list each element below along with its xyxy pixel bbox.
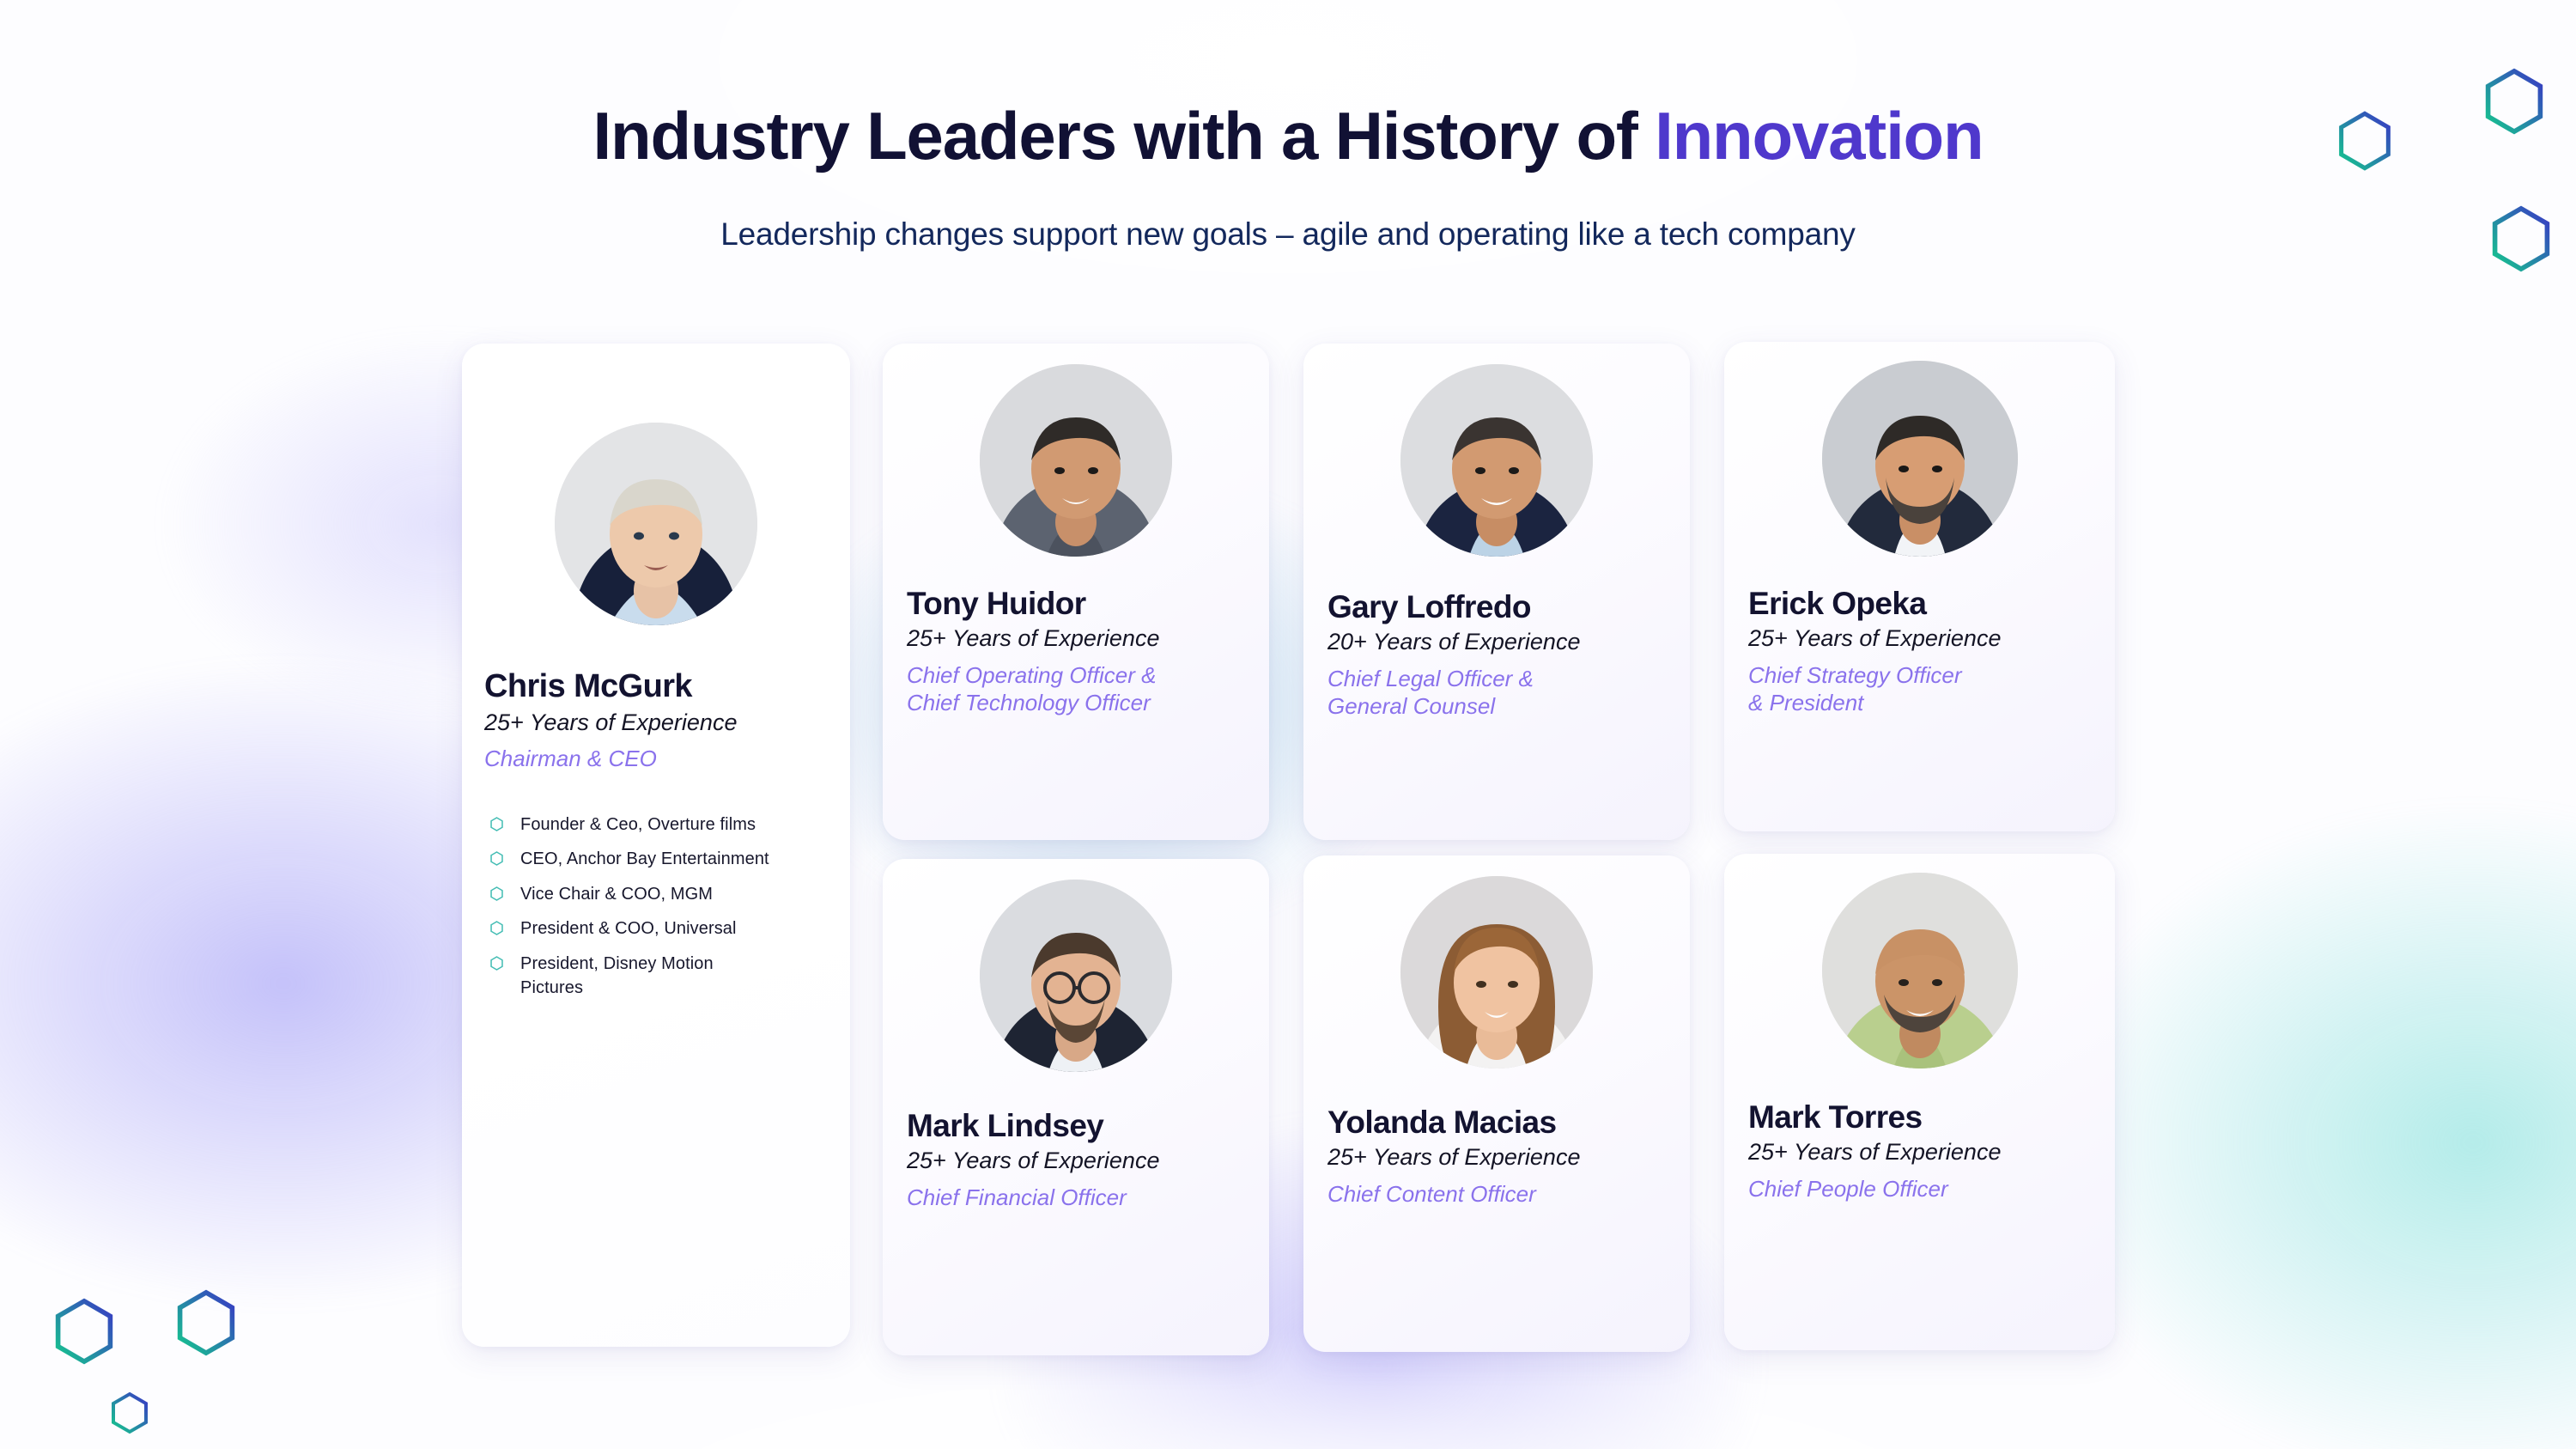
person-role: Chief Financial Officer [907, 1184, 1245, 1212]
avatar [1400, 364, 1593, 557]
list-item-label: President & COO, Universal [520, 916, 737, 941]
person-role: Chief People Officer [1748, 1176, 2091, 1203]
list-item: Founder & Ceo, Overture films [489, 813, 828, 837]
person-experience: 25+ Years of Experience [1748, 624, 2091, 654]
avatar-wrap [1724, 873, 2115, 1068]
erick-opeka-headshot-icon [1822, 361, 2018, 557]
avatar [555, 423, 757, 625]
list-item-label: Vice Chair & COO, MGM [520, 882, 713, 906]
person-name: Mark Lindsey [907, 1108, 1245, 1143]
gary-loffredo-headshot-icon [1400, 364, 1593, 557]
list-item: President, Disney Motion Pictures [489, 952, 828, 1001]
avatar-wrap [1303, 364, 1690, 557]
tony-huidor-headshot-icon [980, 364, 1172, 557]
list-item: Vice Chair & COO, MGM [489, 882, 828, 906]
hexagon-bullet-icon [489, 952, 520, 975]
person-role: Chairman & CEO [484, 746, 828, 773]
person-name: Chris McGurk [484, 668, 828, 705]
person-experience: 25+ Years of Experience [1327, 1143, 1666, 1172]
person-name: Gary Loffredo [1327, 589, 1666, 624]
leader-card-erick-opeka[interactable]: Erick Opeka 25+ Years of Experience Chie… [1724, 342, 2115, 831]
card-body: Gary Loffredo 20+ Years of Experience Ch… [1303, 589, 1690, 721]
slide-root: Industry Leaders with a History of Innov… [0, 0, 2576, 1449]
list-item: CEO, Anchor Bay Entertainment [489, 847, 828, 871]
hexagon-bullet-icon [489, 847, 520, 870]
person-experience: 20+ Years of Experience [1327, 628, 1666, 657]
card-body: Tony Huidor 25+ Years of Experience Chie… [883, 586, 1269, 717]
avatar-wrap [1724, 361, 2115, 557]
person-name: Tony Huidor [907, 586, 1245, 621]
avatar [1822, 361, 2018, 557]
leader-card-yolanda-macias[interactable]: Yolanda Macias 25+ Years of Experience C… [1303, 855, 1690, 1352]
person-role: Chief Operating Officer & Chief Technolo… [907, 662, 1245, 716]
person-role: Chief Content Officer [1327, 1181, 1666, 1209]
avatar [980, 364, 1172, 557]
career-bullet-list: Founder & Ceo, Overture films CEO, Ancho… [484, 813, 828, 1000]
person-experience: 25+ Years of Experience [1748, 1138, 2091, 1167]
leader-card-featured[interactable]: Chris McGurk 25+ Years of Experience Cha… [462, 344, 850, 1347]
card-body: Chris McGurk 25+ Years of Experience Cha… [462, 668, 850, 1000]
chris-mcgurk-headshot-icon [555, 423, 757, 625]
list-item-label: Founder & Ceo, Overture films [520, 813, 756, 837]
leadership-card-grid: Chris McGurk 25+ Years of Experience Cha… [0, 0, 2576, 1449]
person-experience: 25+ Years of Experience [484, 709, 828, 738]
person-role: Chief Legal Officer & General Counsel [1327, 666, 1666, 720]
list-item-label: President, Disney Motion Pictures [520, 952, 778, 1001]
leader-card-mark-lindsey[interactable]: Mark Lindsey 25+ Years of Experience Chi… [883, 859, 1269, 1355]
avatar-wrap [883, 880, 1269, 1072]
list-item: President & COO, Universal [489, 916, 828, 941]
yolanda-macias-headshot-icon [1400, 876, 1593, 1068]
avatar-wrap [462, 423, 850, 625]
avatar-wrap [1303, 876, 1690, 1068]
list-item-label: CEO, Anchor Bay Entertainment [520, 847, 769, 871]
mark-torres-headshot-icon [1822, 873, 2018, 1068]
mark-lindsey-headshot-icon [980, 880, 1172, 1072]
person-role: Chief Strategy Officer & President [1748, 662, 2091, 716]
leader-card-tony-huidor[interactable]: Tony Huidor 25+ Years of Experience Chie… [883, 344, 1269, 840]
person-name: Erick Opeka [1748, 586, 2091, 621]
avatar [1822, 873, 2018, 1068]
avatar [980, 880, 1172, 1072]
person-experience: 25+ Years of Experience [907, 624, 1245, 654]
hexagon-bullet-icon [489, 882, 520, 905]
hexagon-bullet-icon [489, 916, 520, 940]
leader-card-mark-torres[interactable]: Mark Torres 25+ Years of Experience Chie… [1724, 854, 2115, 1350]
card-body: Mark Torres 25+ Years of Experience Chie… [1724, 1099, 2115, 1203]
person-name: Mark Torres [1748, 1099, 2091, 1135]
leader-card-gary-loffredo[interactable]: Gary Loffredo 20+ Years of Experience Ch… [1303, 344, 1690, 840]
hexagon-bullet-icon [489, 813, 520, 836]
avatar-wrap [883, 364, 1269, 557]
person-experience: 25+ Years of Experience [907, 1147, 1245, 1176]
card-body: Erick Opeka 25+ Years of Experience Chie… [1724, 586, 2115, 717]
card-body: Yolanda Macias 25+ Years of Experience C… [1303, 1105, 1690, 1209]
card-body: Mark Lindsey 25+ Years of Experience Chi… [883, 1108, 1269, 1212]
person-name: Yolanda Macias [1327, 1105, 1666, 1140]
avatar [1400, 876, 1593, 1068]
